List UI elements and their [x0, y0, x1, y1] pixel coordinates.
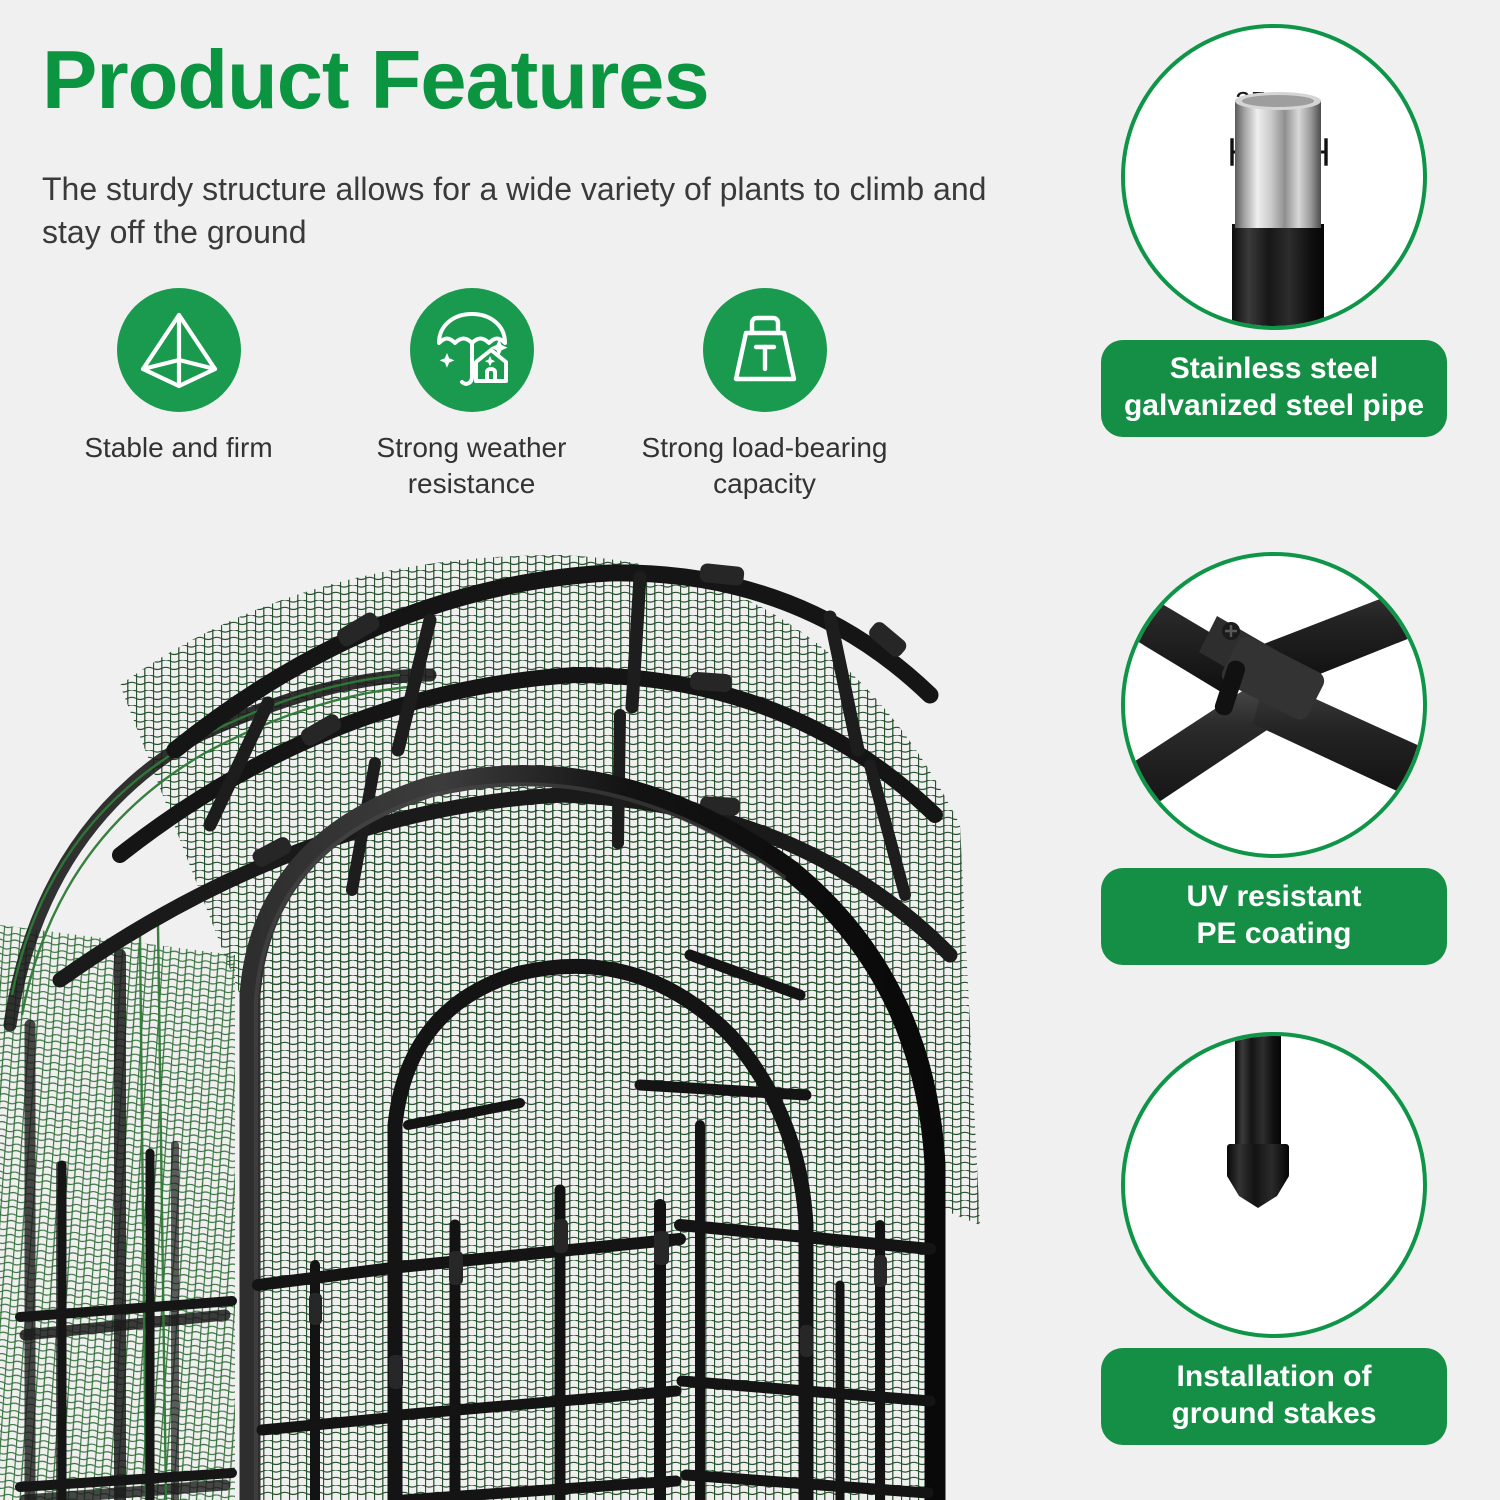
pyramid-icon: [136, 307, 222, 393]
feature-icon-circle: [703, 288, 827, 412]
steel-pipe-icon: [1125, 28, 1427, 330]
feature-icon-circle: [117, 288, 241, 412]
left-content-column: Product Features The sturdy structure al…: [0, 0, 1040, 1500]
callout-steel-pipe: 25mm: [1048, 24, 1500, 437]
feature-item-weather: Strong weather resistance: [325, 288, 618, 503]
umbrella-house-icon: [429, 307, 515, 393]
arch-trellis-illustration: [0, 525, 1040, 1500]
feature-list: Stable and firm: [32, 288, 912, 503]
callout-badge-line2: PE coating: [1111, 916, 1437, 953]
feature-item-load: Strong load-bearing capacity: [618, 288, 911, 503]
feature-label: Strong weather resistance: [337, 430, 607, 503]
callout-circle: [1121, 552, 1427, 858]
callout-pe-coating: UV resistant PE coating: [1048, 552, 1500, 965]
feature-label: Strong load-bearing capacity: [630, 430, 900, 503]
callout-circle: [1121, 1032, 1427, 1338]
ground-stake-icon: [1125, 1036, 1427, 1338]
callout-badge: Stainless steel galvanized steel pipe: [1101, 340, 1447, 437]
callout-circle: 25mm: [1121, 24, 1427, 330]
callout-badge: Installation of ground stakes: [1101, 1348, 1447, 1445]
page-subtitle: The sturdy structure allows for a wide v…: [42, 168, 1002, 254]
callout-badge-line2: galvanized steel pipe: [1111, 388, 1437, 425]
callout-badge: UV resistant PE coating: [1101, 868, 1447, 965]
product-photo: [0, 525, 1040, 1500]
page-title: Product Features: [42, 38, 709, 121]
callout-ground-stakes: Installation of ground stakes: [1048, 1032, 1500, 1445]
callout-badge-line1: Stainless steel: [1111, 351, 1437, 388]
feature-item-stable: Stable and firm: [32, 288, 325, 466]
callout-badge-line1: Installation of: [1111, 1359, 1437, 1396]
callout-badge-line1: UV resistant: [1111, 879, 1437, 916]
feature-label: Stable and firm: [84, 430, 272, 466]
feature-icon-circle: [410, 288, 534, 412]
pipe-joint-icon: [1125, 556, 1427, 858]
weight-icon: [724, 309, 806, 391]
callout-badge-line2: ground stakes: [1111, 1396, 1437, 1433]
callout-column: 25mm: [1048, 0, 1500, 1500]
